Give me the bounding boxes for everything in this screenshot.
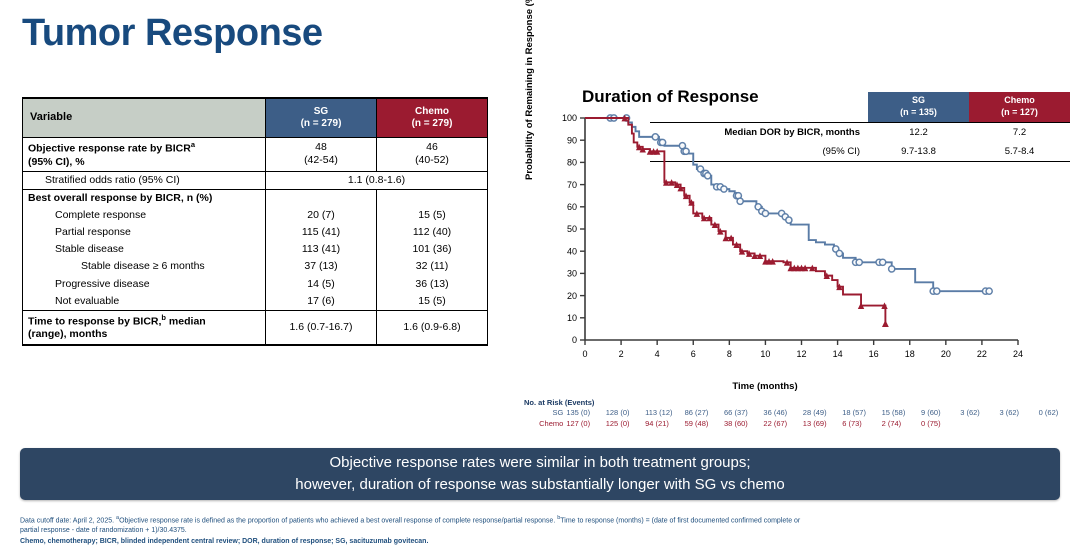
risk-row-sg-label: SG [522,408,566,419]
table-row: Not evaluable 17 (6) 15 (5) [23,293,488,311]
risk-cell: 59 (48) [685,419,724,430]
cell-sd6-chemo: 32 (11) [377,258,488,275]
cell-bor-chemo [377,189,488,207]
cell-pd-sg: 14 (5) [266,276,377,293]
risk-cell: 3 (62) [960,408,999,419]
risk-row-chemo-label: Chemo [522,419,566,430]
series-chemo [585,115,889,327]
cell-pd-chemo: 36 (13) [377,276,488,293]
table-row: Best overall response by BICR, n (%) [23,189,488,207]
orr-label-line1: Objective response rate by BICR [28,143,191,155]
curve-line-chemo [585,118,885,323]
footnote-abbreviations: Chemo, chemotherapy; BICR, blinded indep… [20,537,1066,547]
banner-line-1: Objective response rates were similar in… [329,452,750,474]
censor-mark [659,139,665,145]
y-tick-label: 20 [567,291,577,301]
censor-mark [683,148,689,154]
cell-ne-chemo: 15 (5) [377,293,488,311]
cell-ne-sg: 17 (6) [266,293,377,311]
censor-mark [836,250,842,256]
conclusion-banner: Objective response rates were similar in… [20,448,1060,500]
cell-cr-sg: 20 (7) [266,207,377,224]
x-tick-label: 0 [582,349,587,359]
header-variable: Variable [23,98,266,138]
table-row: Stable disease ≥ 6 months 37 (13) 32 (11… [23,258,488,275]
cell-sd6-sg: 37 (13) [266,258,377,275]
cell-pr-chemo: 112 (40) [377,224,488,241]
ttr-label-mid: median [166,315,206,327]
censor-mark [786,217,792,223]
x-tick-label: 8 [727,349,732,359]
x-tick-label: 16 [869,349,879,359]
footnote-line-1: Data cutoff date: April 2, 2025. aObject… [20,515,1066,526]
cell-odds-ratio-value: 1.1 (0.8-1.6) [266,171,488,189]
cell-pr-sg: 115 (41) [266,224,377,241]
header-sg-name: SG [271,106,371,119]
risk-table: SG 135 (0)128 (0)113 (12)86 (27)66 (37)3… [522,408,1078,430]
tumor-response-table: Variable SG (n = 279) Chemo (n = 279) Ob… [22,97,488,346]
cell-cr-chemo: 15 (5) [377,207,488,224]
risk-cell: 15 (58) [882,408,921,419]
cell-bor-sg [266,189,377,207]
x-tick-label: 10 [760,349,770,359]
header-chemo: Chemo (n = 279) [377,98,488,138]
censor-mark [986,288,992,294]
risk-cell: 18 (57) [842,408,881,419]
cell-sd-chemo: 101 (36) [377,241,488,258]
risk-cell: 13 (69) [803,419,842,430]
footnote-cutoff: Data cutoff date: April 2, 2025. [20,517,116,524]
cell-orr-chemo: 46 (40-52) [377,138,488,172]
censor-mark [856,259,862,265]
km-curve-plot: 0102030405060708090100024681012141618202… [530,112,1030,382]
cell-orr-chemo-value: 46 [382,141,482,154]
risk-cell: 3 (62) [999,408,1038,419]
table-row: Stable disease 113 (41) 101 (36) [23,241,488,258]
slide-root: Tumor Response Variable SG (n = 279) Che… [0,0,1080,549]
risk-cell: 38 (60) [724,419,763,430]
risk-cell [999,419,1038,430]
risk-cell: 113 (12) [645,408,685,419]
x-tick-label: 14 [833,349,843,359]
terminal-censor-mark [882,320,889,327]
x-tick-label: 6 [691,349,696,359]
cell-orr-sg: 48 (42-54) [266,138,377,172]
cell-orr-sg-ci: (42-54) [271,154,371,167]
risk-cell: 2 (74) [882,419,921,430]
cell-sd-sg: 113 (41) [266,241,377,258]
x-tick-label: 2 [619,349,624,359]
cell-ttr-chemo: 1.6 (0.9-6.8) [377,310,488,344]
footnote-orr-def: Objective response rate is defined as th… [119,517,557,524]
risk-cell: 9 (60) [921,408,960,419]
risk-cell: 94 (21) [645,419,685,430]
censor-mark [889,266,895,272]
censor-mark [705,173,711,179]
x-tick-label: 22 [977,349,987,359]
x-tick-label: 20 [941,349,951,359]
page-title: Tumor Response [22,12,323,55]
risk-table-title: No. at Risk (Events) [524,398,1080,407]
risk-cell [960,419,999,430]
duration-of-response-chart-block: Duration of Response SG (n = 135) Chemo … [530,84,1080,444]
risk-cell: 135 (0) [566,408,605,419]
table-row: Objective response rate by BICRa (95% CI… [23,138,488,172]
row-label-partial-response: Partial response [23,224,266,241]
y-tick-label: 0 [572,335,577,345]
risk-cell: 28 (49) [803,408,842,419]
y-tick-label: 30 [567,269,577,279]
chart-axes: 0102030405060708090100024681012141618202… [562,113,1023,359]
ttr-label-line2: (range), months [28,328,107,340]
row-label-stable-disease-6mo: Stable disease ≥ 6 months [23,258,266,275]
cell-orr-sg-value: 48 [271,141,371,154]
header-chemo-name: Chemo [382,106,482,119]
table-row: Stratified odds ratio (95% CI) 1.1 (0.8-… [23,171,488,189]
x-tick-label: 18 [905,349,915,359]
y-tick-label: 80 [567,158,577,168]
row-label-time-to-response: Time to response by BICR,b median (range… [23,310,266,344]
header-chemo-n: (n = 279) [382,118,482,131]
risk-cell [1039,419,1078,430]
x-tick-label: 24 [1013,349,1023,359]
y-tick-label: 60 [567,202,577,212]
risk-cell: 22 (67) [763,419,802,430]
censor-mark [721,186,727,192]
table-row: Time to response by BICR,b median (range… [23,310,488,344]
censor-mark [762,210,768,216]
x-tick-label: 4 [655,349,660,359]
footnotes: Data cutoff date: April 2, 2025. aObject… [20,515,1066,547]
risk-cell: 86 (27) [685,408,724,419]
risk-cell: 36 (46) [763,408,802,419]
y-tick-label: 10 [567,313,577,323]
risk-cell: 6 (73) [842,419,881,430]
row-label-progressive-disease: Progressive disease [23,276,266,293]
risk-cell: 127 (0) [566,419,605,430]
row-label-complete-response: Complete response [23,207,266,224]
censor-mark [737,198,743,204]
ttr-label-line1: Time to response by BICR, [28,315,161,327]
chart-x-axis-label: Time (months) [530,381,1000,392]
risk-cell: 128 (0) [606,408,645,419]
footnote-line-2: partial response - date of randomization… [20,526,1066,536]
censor-mark [652,134,658,140]
row-label-bor: Best overall response by BICR, n (%) [23,189,266,207]
row-label-stable-disease: Stable disease [23,241,266,258]
risk-row-sg: SG 135 (0)128 (0)113 (12)86 (27)66 (37)3… [522,408,1078,419]
number-at-risk-block: No. at Risk (Events) SG 135 (0)128 (0)11… [522,398,1080,430]
chart-curves [585,115,992,327]
orr-label-line2: (95% CI), % [28,156,85,168]
table-row: Complete response 20 (7) 15 (5) [23,207,488,224]
risk-row-chemo: Chemo 127 (0)125 (0)94 (21)59 (48)38 (60… [522,419,1078,430]
y-tick-label: 50 [567,224,577,234]
dor-header-chemo-name: Chemo [972,95,1067,107]
cell-ttr-sg: 1.6 (0.7-16.7) [266,310,377,344]
table-header-row: Variable SG (n = 279) Chemo (n = 279) [23,98,488,138]
row-label-odds-ratio: Stratified odds ratio (95% CI) [23,171,266,189]
cell-orr-chemo-ci: (40-52) [382,154,482,167]
y-tick-label: 100 [562,113,577,123]
header-sg-n: (n = 279) [271,118,371,131]
censor-mark [934,288,940,294]
y-tick-label: 70 [567,180,577,190]
footnote-ttr-def: Time to response (months) = (date of fir… [560,517,800,524]
risk-cell: 125 (0) [606,419,645,430]
risk-cell: 0 (62) [1039,408,1078,419]
table-row: Progressive disease 14 (5) 36 (13) [23,276,488,293]
series-sg [585,115,992,294]
risk-cell: 0 (75) [921,419,960,430]
risk-cell: 66 (37) [724,408,763,419]
row-label-not-evaluable: Not evaluable [23,293,266,311]
header-sg: SG (n = 279) [266,98,377,138]
orr-footnote-marker: a [191,140,195,149]
table-row: Partial response 115 (41) 112 (40) [23,224,488,241]
x-tick-label: 12 [796,349,806,359]
row-label-orr: Objective response rate by BICRa (95% CI… [23,138,266,172]
y-tick-label: 90 [567,135,577,145]
censor-mark [880,259,886,265]
banner-line-2: however, duration of response was substa… [295,474,784,496]
dor-header-sg-name: SG [871,95,966,107]
y-tick-label: 40 [567,246,577,256]
